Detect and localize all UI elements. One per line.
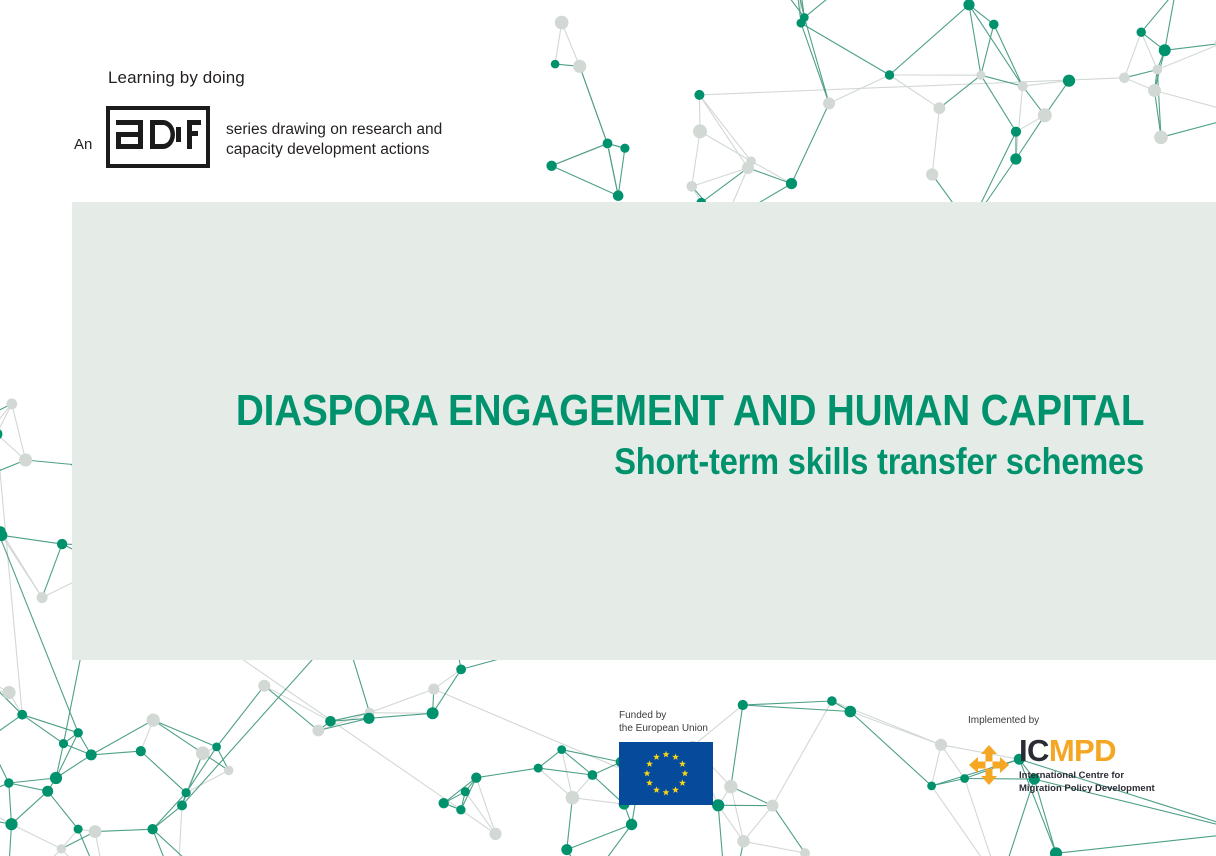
- icmpd-wordmark-dark: IC: [1019, 733, 1049, 768]
- european-union-flag: [619, 742, 713, 805]
- eu-funding-block: Funded by the European Union: [619, 710, 713, 805]
- header-description: series drawing on research and capacity …: [226, 120, 442, 161]
- series-tagline: Learning by doing: [108, 68, 245, 88]
- header-lockup: Learning by doing An: [74, 68, 594, 188]
- icmpd-tagline: International Centre for Migration Polic…: [1019, 770, 1155, 795]
- icmpd-wordmark-orange: MPD: [1049, 733, 1116, 768]
- header-prefix: An: [74, 136, 92, 153]
- icmpd-implementer-block: Implemented by ICMPD International Centr…: [968, 715, 1155, 795]
- edif-logo-glyphs: [110, 110, 206, 164]
- icmpd-caption: Implemented by: [968, 715, 1155, 726]
- eu-funding-caption: Funded by the European Union: [619, 710, 713, 736]
- four-way-arrow-icon: [968, 744, 1010, 786]
- page-subtitle: Short-term skills transfer schemes: [614, 441, 1144, 483]
- icmpd-wordmark: ICMPD: [1019, 735, 1155, 766]
- page-title: DIASPORA ENGAGEMENT AND HUMAN CAPITAL: [236, 386, 1144, 436]
- eu-flag-stars: [619, 742, 713, 805]
- edif-logo: [106, 106, 210, 168]
